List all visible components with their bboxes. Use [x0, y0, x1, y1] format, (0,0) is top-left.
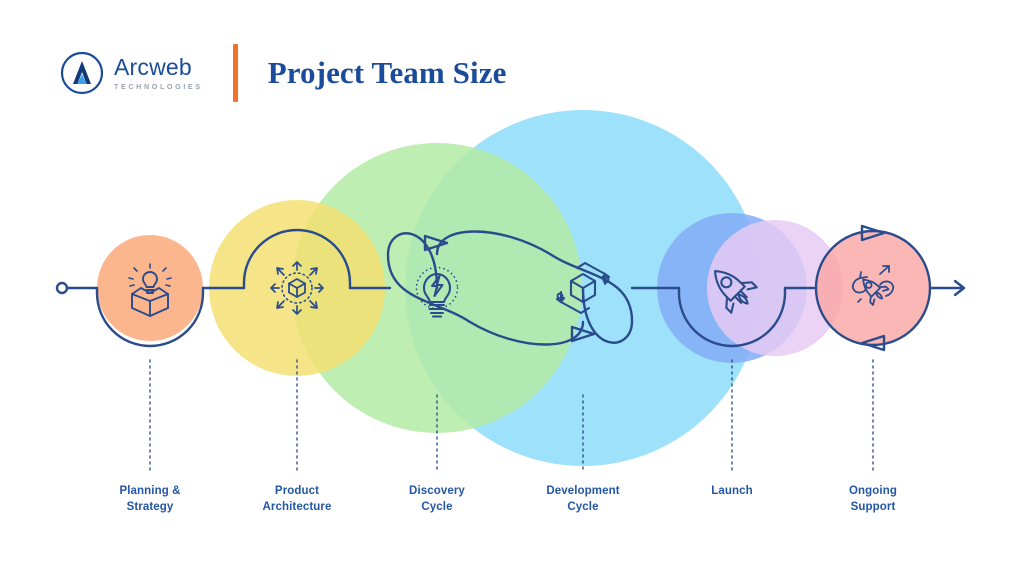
- process-diagram: Planning & Strategy Product Architecture…: [0, 0, 1024, 576]
- label-line-1: Product: [232, 484, 362, 500]
- label-line-2: Architecture: [232, 500, 362, 516]
- label-line-1: Planning &: [85, 484, 215, 500]
- label-line-2: Cycle: [518, 500, 648, 516]
- label-line-2: Cycle: [372, 500, 502, 516]
- infographic-canvas: Arcweb TECHNOLOGIES Project Team Size: [0, 0, 1024, 576]
- label-line-1: Ongoing: [808, 484, 938, 500]
- label-launch: Launch: [667, 484, 797, 500]
- label-line-1: Discovery: [372, 484, 502, 500]
- label-line-2: Support: [808, 500, 938, 516]
- label-product-architecture: Product Architecture: [232, 484, 362, 516]
- label-development-cycle: Development Cycle: [518, 484, 648, 516]
- label-line-1: Development: [518, 484, 648, 500]
- label-line-1: Launch: [667, 484, 797, 500]
- label-planning-strategy: Planning & Strategy: [85, 484, 215, 516]
- stage-labels: Planning & Strategy Product Architecture…: [0, 0, 1024, 576]
- label-discovery-cycle: Discovery Cycle: [372, 484, 502, 516]
- label-ongoing-support: Ongoing Support: [808, 484, 938, 516]
- label-line-2: Strategy: [85, 500, 215, 516]
